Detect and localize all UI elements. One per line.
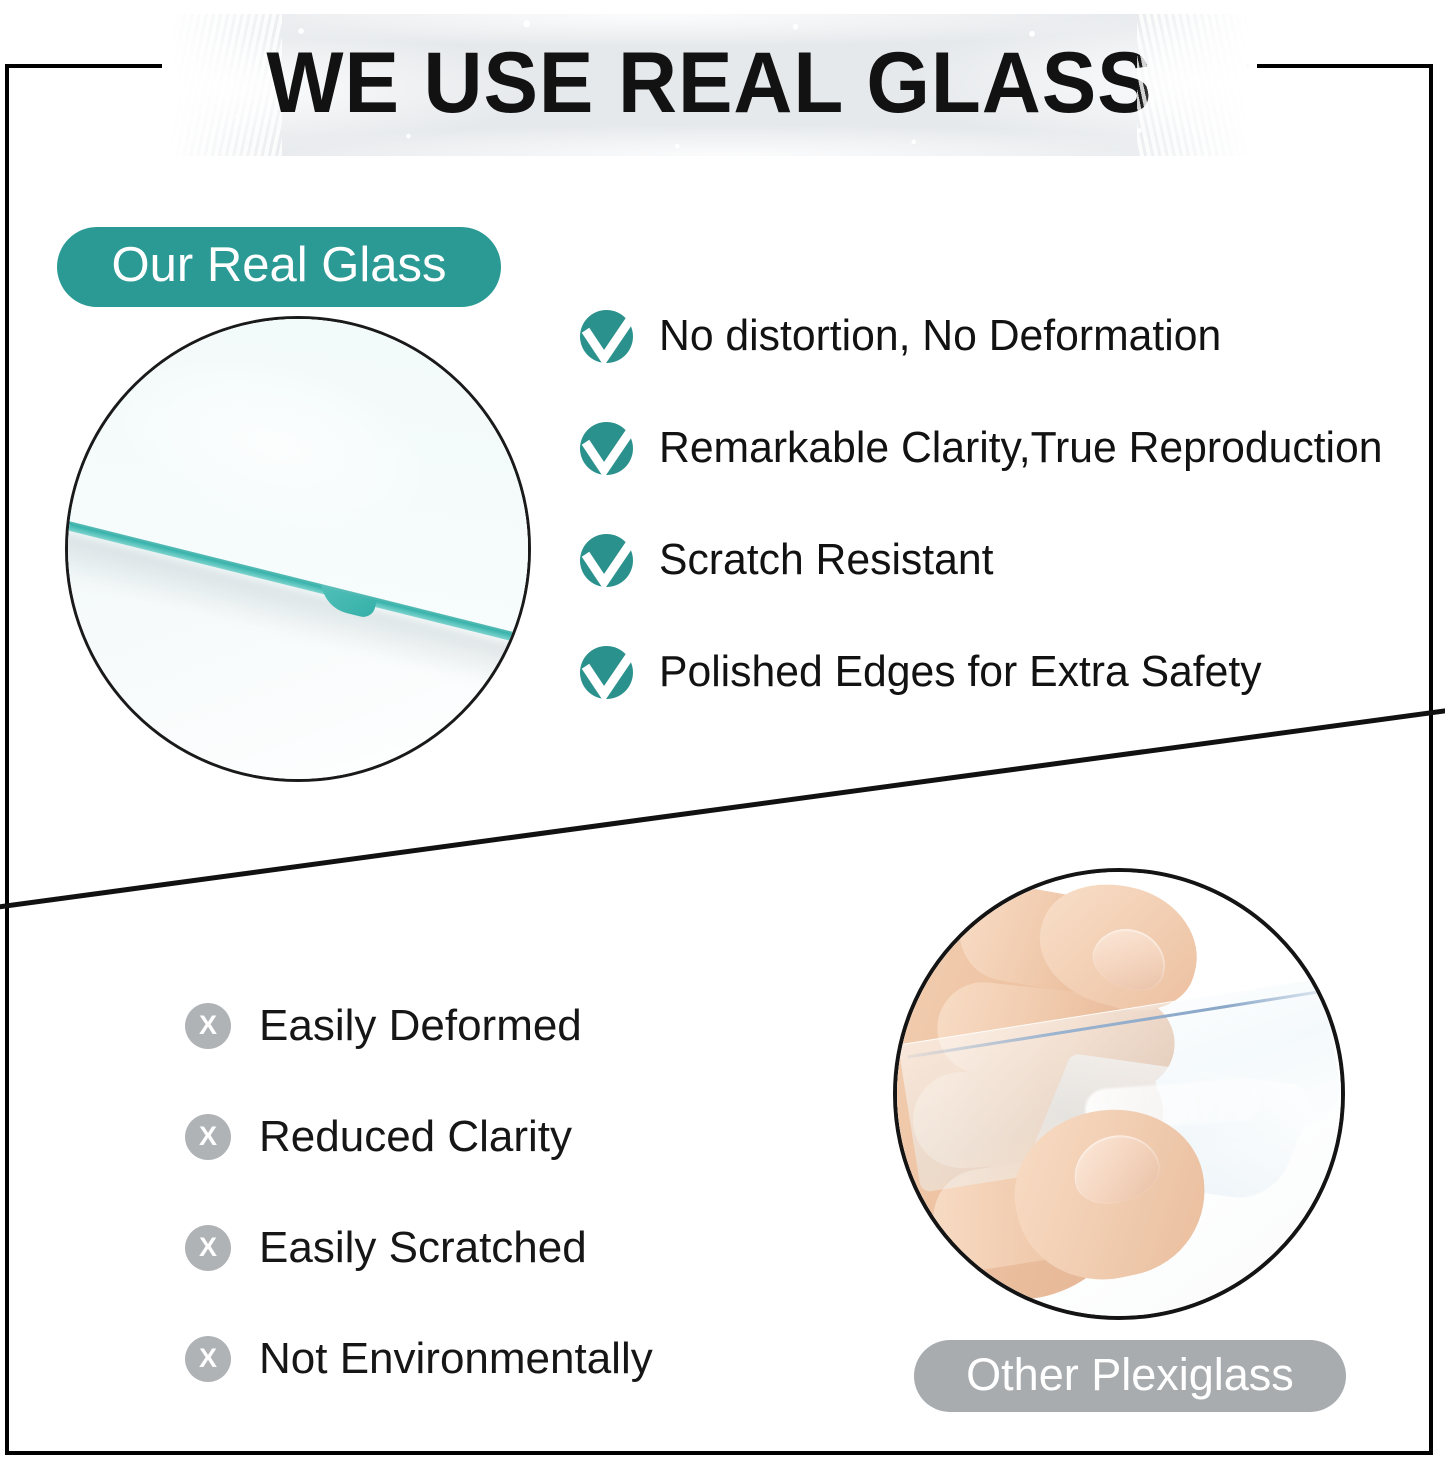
- cons-item-label: Easily Scratched: [259, 1226, 587, 1270]
- list-item: Remarkable Clarity,True Reproduction: [580, 392, 1430, 504]
- check-icon: [580, 534, 633, 587]
- list-item: Scratch Resistant: [580, 504, 1430, 616]
- x-icon: X: [185, 1225, 231, 1271]
- cons-item-label: Not Environmentally: [259, 1337, 653, 1381]
- pros-item-label: Polished Edges for Extra Safety: [659, 650, 1262, 694]
- check-icon: [580, 310, 633, 363]
- cons-list: X Easily Deformed X Reduced Clarity X Ea…: [185, 970, 825, 1414]
- list-item: X Reduced Clarity: [185, 1081, 825, 1192]
- list-item: Polished Edges for Extra Safety: [580, 616, 1430, 728]
- list-item: X Easily Deformed: [185, 970, 825, 1081]
- real-glass-photo: [65, 316, 531, 782]
- x-icon: X: [185, 1336, 231, 1382]
- plexiglass-photo: [893, 868, 1345, 1320]
- pros-item-label: No distortion, No Deformation: [659, 314, 1221, 358]
- badge-other-plexiglass: Other Plexiglass: [914, 1340, 1346, 1412]
- pros-item-label: Scratch Resistant: [659, 538, 993, 582]
- badge-our-real-glass: Our Real Glass: [57, 227, 501, 307]
- list-item: X Easily Scratched: [185, 1192, 825, 1303]
- cons-item-label: Reduced Clarity: [259, 1115, 572, 1159]
- x-icon: X: [185, 1003, 231, 1049]
- pros-list: No distortion, No Deformation Remarkable…: [580, 280, 1430, 728]
- cons-item-label: Easily Deformed: [259, 1004, 582, 1048]
- check-icon: [580, 646, 633, 699]
- list-item: No distortion, No Deformation: [580, 280, 1430, 392]
- infographic-canvas: WE USE REAL GLASS Our Real Glass No dist…: [0, 0, 1445, 1470]
- page-title: WE USE REAL GLASS: [199, 40, 1220, 126]
- check-icon: [580, 422, 633, 475]
- x-icon: X: [185, 1114, 231, 1160]
- pros-item-label: Remarkable Clarity,True Reproduction: [659, 426, 1382, 470]
- title-banner: WE USE REAL GLASS: [172, 14, 1247, 156]
- list-item: X Not Environmentally: [185, 1303, 825, 1414]
